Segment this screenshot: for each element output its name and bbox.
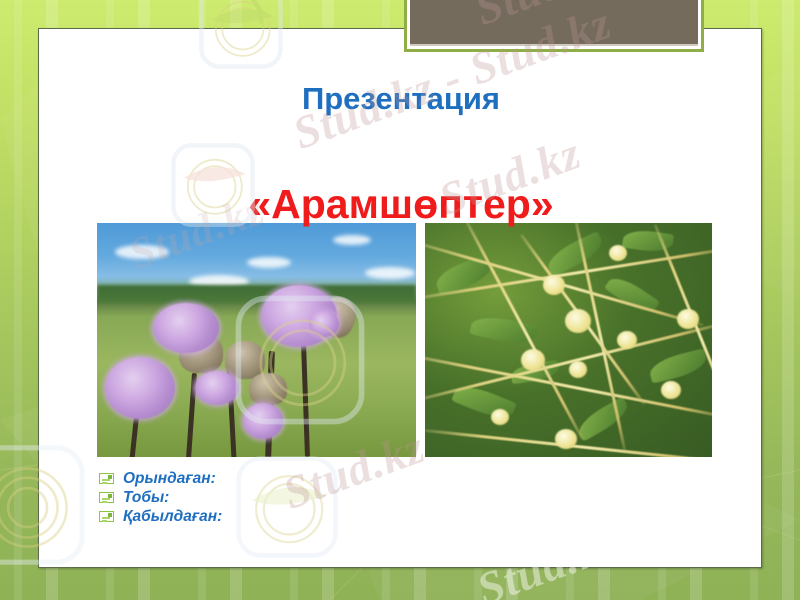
bullet-square-icon [99, 473, 114, 484]
top-accent-box [410, 0, 698, 46]
bullet-square-icon [99, 492, 114, 503]
top-accent-inner-border [407, 0, 701, 49]
subtitle-heading: «Арамшөптер» [39, 181, 763, 228]
author-bullet-list: Орындаған: Тобы: Қабылдаған: [99, 469, 222, 526]
bullet-label-receiver: Қабылдаған: [123, 508, 222, 526]
list-item[interactable]: Тобы: [99, 488, 222, 507]
slide-content-frame: Презентация «Арамшөптер» [38, 28, 762, 568]
bullet-label-performer: Орындаған: [123, 470, 216, 488]
page-title: Презентация [39, 81, 763, 117]
thistle-scene [97, 223, 416, 457]
dodder-photo [425, 223, 712, 457]
dodder-scene [425, 223, 712, 457]
bullet-label-group: Тобы: [123, 489, 169, 507]
top-accent-decoration [404, 0, 704, 52]
thistle-photo [97, 223, 416, 457]
list-item[interactable]: Орындаған: [99, 469, 222, 488]
presentation-slide: Презентация «Арамшөптер» [0, 0, 800, 600]
bullet-square-icon [99, 511, 114, 522]
list-item[interactable]: Қабылдаған: [99, 507, 222, 526]
